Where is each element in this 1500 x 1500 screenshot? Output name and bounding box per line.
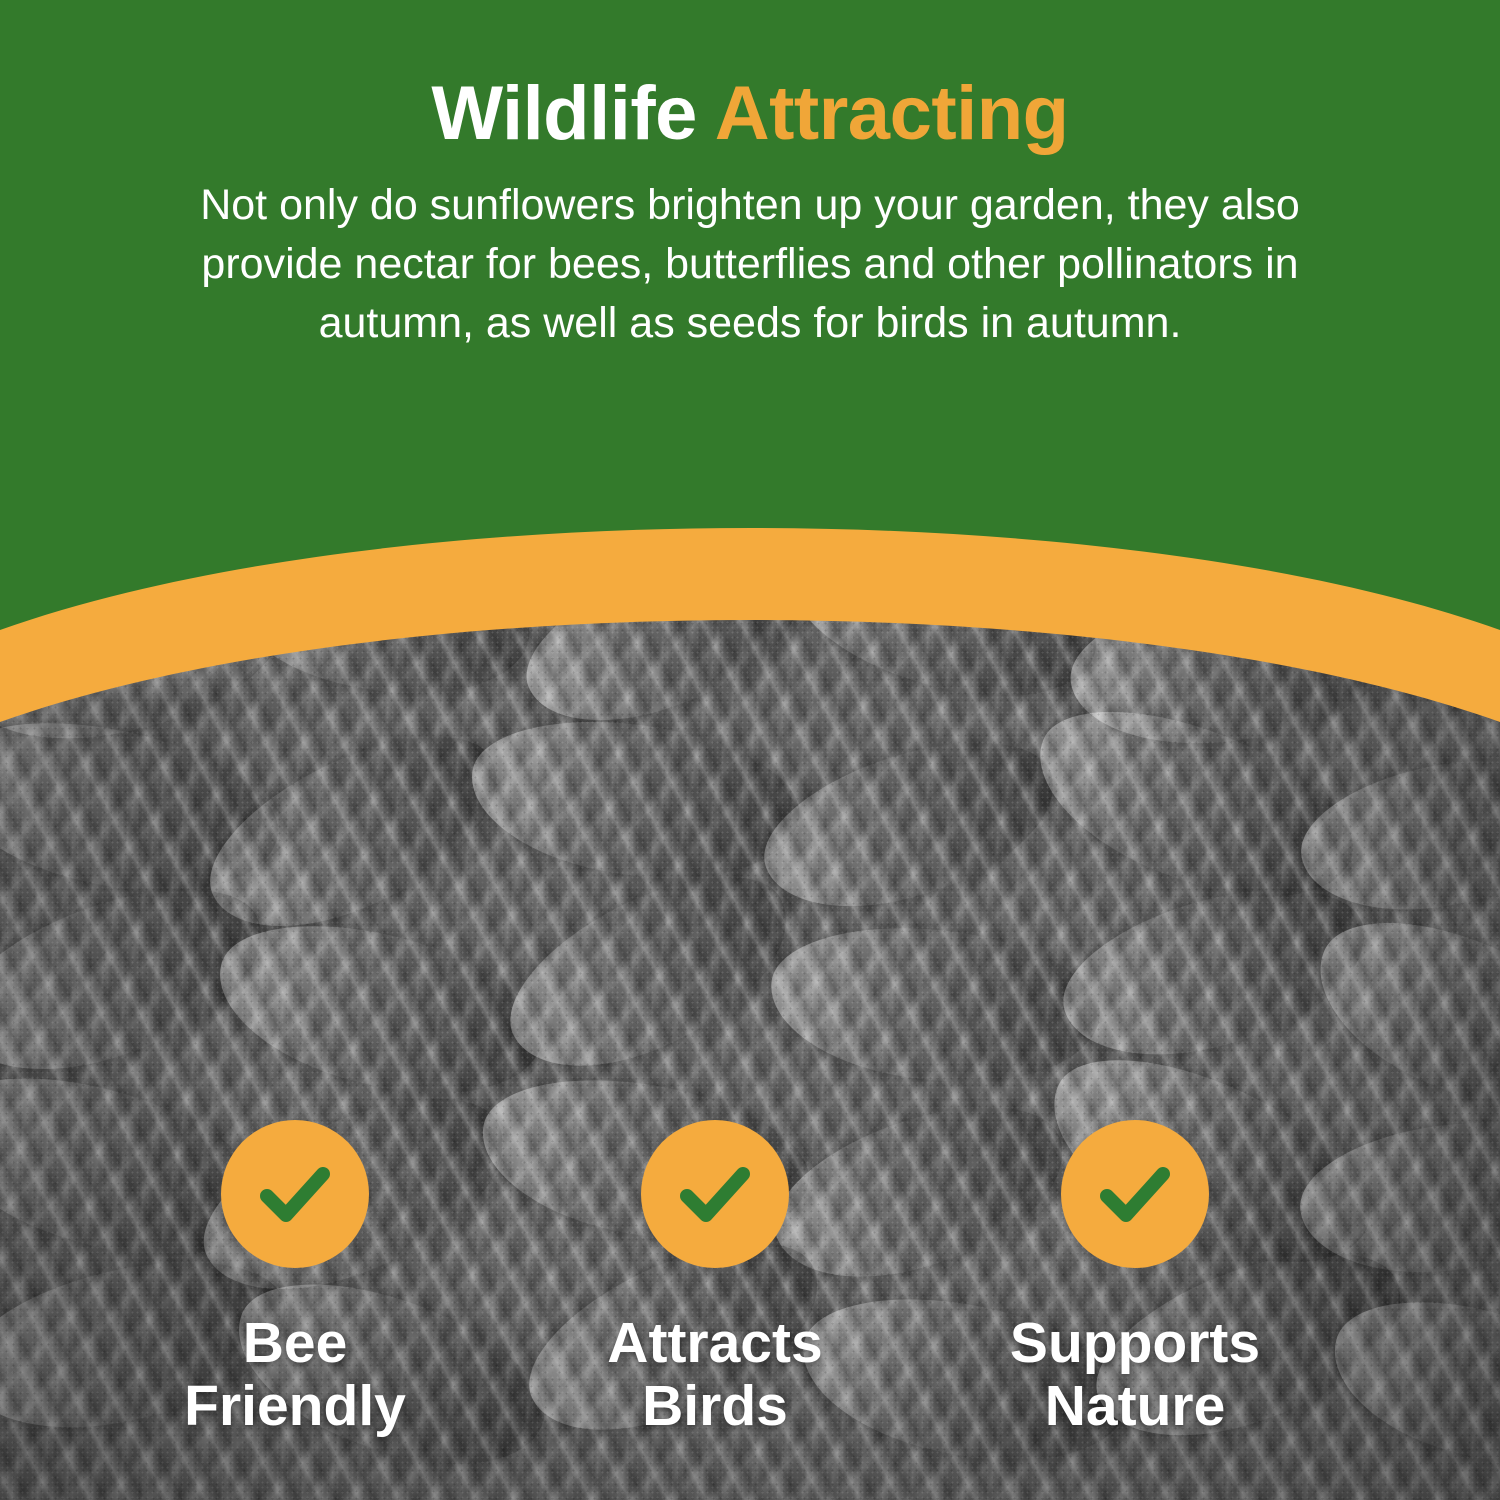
feature-label: Supports Nature xyxy=(1010,1312,1260,1437)
page-title: Wildlife Attracting xyxy=(0,0,1500,154)
feature-item-bee-friendly: Bee Friendly xyxy=(85,1120,505,1437)
wildlife-attracting-poster: Wildlife Attracting Not only do sunflowe… xyxy=(0,0,1500,1500)
feature-item-attracts-birds: Attracts Birds xyxy=(505,1120,925,1437)
check-badge xyxy=(221,1120,369,1268)
feature-item-supports-nature: Supports Nature xyxy=(925,1120,1345,1437)
check-badge xyxy=(1061,1120,1209,1268)
check-icon xyxy=(1087,1146,1183,1242)
title-primary: Wildlife xyxy=(431,71,714,156)
check-icon xyxy=(667,1146,763,1242)
header: Wildlife Attracting Not only do sunflowe… xyxy=(0,0,1500,354)
check-badge xyxy=(641,1120,789,1268)
feature-list: Bee Friendly Attracts Birds Supports Nat… xyxy=(0,1120,1500,1437)
feature-label: Bee Friendly xyxy=(184,1312,406,1437)
subtitle: Not only do sunflowers brighten up your … xyxy=(145,154,1355,354)
feature-label: Attracts Birds xyxy=(607,1312,822,1437)
check-icon xyxy=(247,1146,343,1242)
title-accent: Attracting xyxy=(715,71,1069,156)
